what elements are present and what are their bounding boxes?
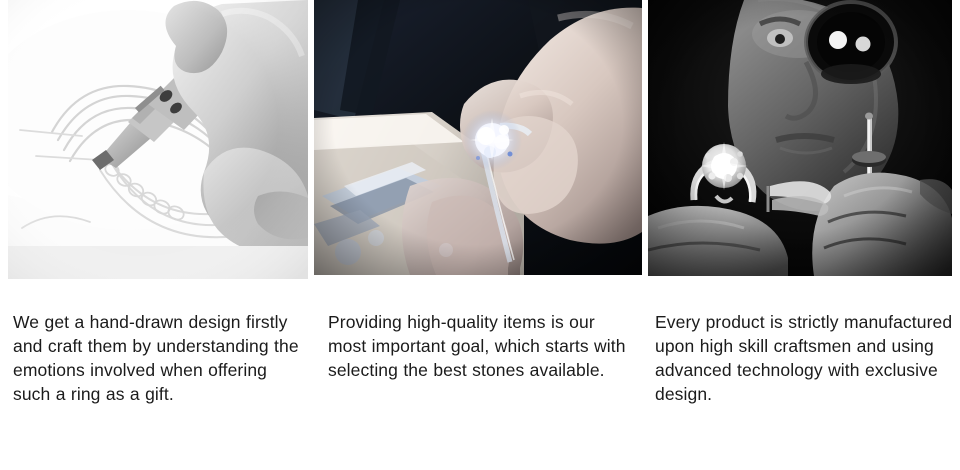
feature-caption-2: Providing high-quality items is our most… xyxy=(328,310,638,382)
feature-row: We get a hand-drawn design firstly and c… xyxy=(0,0,960,470)
selecting-best-stones-photo xyxy=(314,0,642,275)
feature-caption-1: We get a hand-drawn design firstly and c… xyxy=(13,310,305,406)
sketch-illustration xyxy=(8,0,308,279)
craftsman-inspecting-ring-photo xyxy=(648,0,952,276)
feature-column-3: Every product is strictly manufactured u… xyxy=(648,0,952,276)
feature-caption-3: Every product is strictly manufactured u… xyxy=(655,310,955,406)
feature-column-2: Providing high-quality items is our most… xyxy=(314,0,642,275)
feature-column-1: We get a hand-drawn design firstly and c… xyxy=(8,0,308,279)
diamond-ring-selection-illustration xyxy=(314,0,642,275)
jeweler-loupe-illustration xyxy=(648,0,952,276)
hand-drawn-design-sketch-photo xyxy=(8,0,308,279)
